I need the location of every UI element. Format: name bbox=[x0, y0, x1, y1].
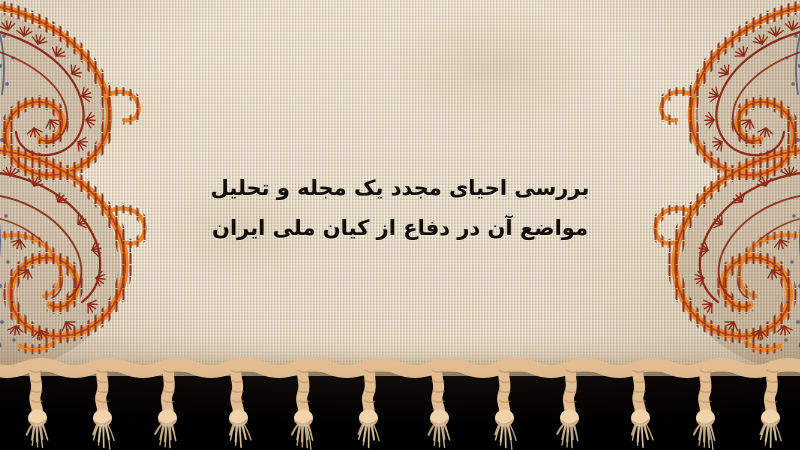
title-block: بررسی احیای مجدد یک مجله و تحلیل مواضع آ… bbox=[0, 168, 800, 248]
tassel bbox=[557, 366, 581, 448]
tassel bbox=[760, 366, 784, 448]
tassel bbox=[155, 366, 179, 448]
tassel bbox=[292, 366, 313, 450]
tassel bbox=[495, 366, 516, 450]
title-line-2: مواضع آن در دفاع از کیان ملی ایران bbox=[0, 208, 800, 248]
tassel bbox=[24, 366, 48, 448]
tassel bbox=[227, 366, 251, 448]
tassel bbox=[694, 366, 715, 450]
tassel bbox=[426, 366, 450, 448]
tassel-fringe bbox=[0, 346, 800, 450]
tassel bbox=[93, 366, 114, 450]
tassel bbox=[629, 366, 653, 448]
title-card-canvas: بررسی احیای مجدد یک مجله و تحلیل مواضع آ… bbox=[0, 0, 800, 450]
tassel bbox=[358, 366, 382, 448]
title-line-1: بررسی احیای مجدد یک مجله و تحلیل bbox=[0, 168, 800, 208]
